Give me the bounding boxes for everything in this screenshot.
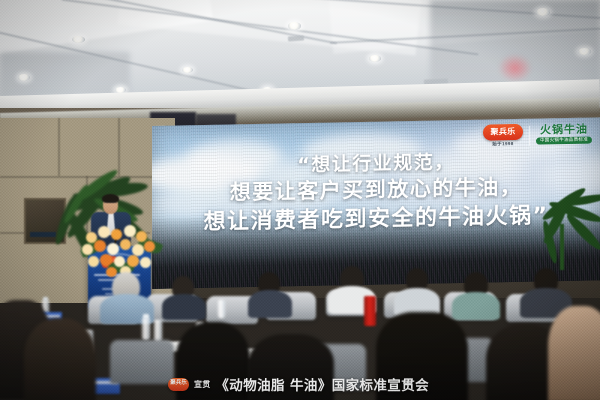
ceiling-downlight <box>288 22 301 30</box>
audience-shoulders <box>248 290 292 318</box>
ceiling-downlight <box>18 74 30 81</box>
event-banner: 聚兵乐 宣贯 《动物油脂 牛油》国家标准宣贯会 <box>168 374 429 394</box>
audience-shoulders <box>452 292 500 320</box>
water-bottle <box>218 300 225 318</box>
bottle-cap <box>43 297 48 301</box>
banner-logo-text: 聚兵乐 <box>170 381 187 387</box>
brand-divider <box>529 125 530 145</box>
wall-art-panel <box>24 198 66 244</box>
led-screen: 聚兵乐 始于1998 火锅牛油 中国火锅牛油品质标准 “想让行业规范， 想要让客… <box>152 117 600 289</box>
foreground-person <box>548 306 600 400</box>
brand-logo-mark: 聚兵乐 <box>483 124 523 141</box>
flower-arrangement <box>78 224 162 276</box>
chair <box>110 340 174 384</box>
ceiling-downlight <box>578 48 591 55</box>
screen-quote: “想让行业规范， 想要让客户买到放心的牛油， 想让消费者吃到安全的牛油火锅” <box>152 147 600 237</box>
ceiling-downlight <box>182 67 193 73</box>
banner-logo: 聚兵乐 <box>168 378 189 391</box>
ceiling-downlight <box>536 8 550 16</box>
water-bottle <box>142 318 150 340</box>
conference-photo: 聚兵乐 始于1998 火锅牛油 中国火锅牛油品质标准 “想让行业规范， 想要让客… <box>0 0 600 400</box>
water-bottle <box>154 320 162 342</box>
ceiling-downlight <box>369 55 381 62</box>
speaker-glasses <box>104 202 117 206</box>
brand-product-tag: 中国火锅牛油品质标准 <box>536 137 592 145</box>
brand-product-title: 火锅牛油 <box>540 125 588 137</box>
audience-shoulders <box>162 294 206 320</box>
brand-mark-text: 聚兵乐 <box>491 128 516 136</box>
screen-brand-lockup: 聚兵乐 始于1998 火锅牛油 中国火锅牛油品质标准 <box>483 123 592 148</box>
banner-prefix: 宣贯 <box>194 379 210 390</box>
banner-title: 《动物油脂 牛油》国家标准宣贯会 <box>215 374 429 394</box>
brand-since-text: 始于1998 <box>492 141 513 147</box>
red-thermos <box>364 296 376 326</box>
bottle-cap <box>143 314 149 319</box>
wall-light-glow <box>498 54 532 82</box>
foreground-person <box>24 318 96 400</box>
ceiling-downlight <box>72 36 85 43</box>
